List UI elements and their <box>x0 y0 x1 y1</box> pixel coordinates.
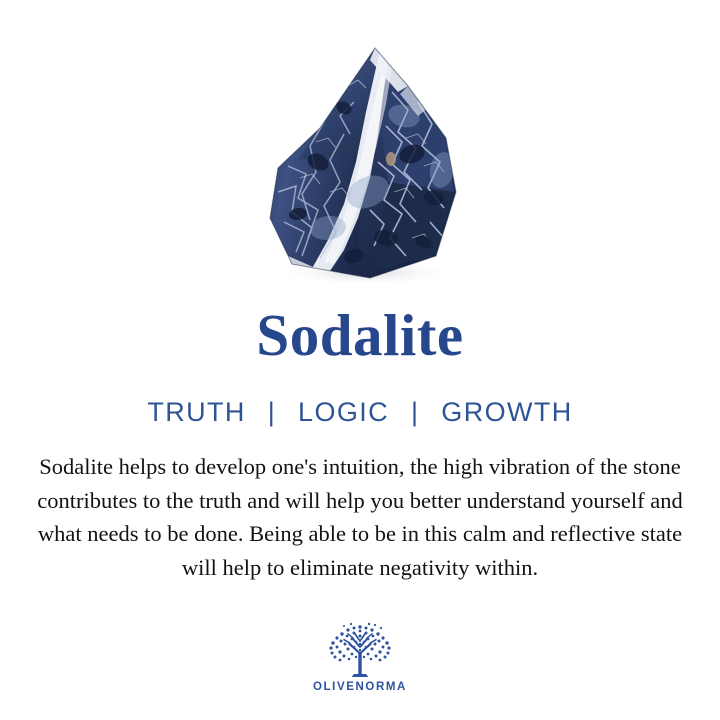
description-text: Sodalite helps to develop one's intuitio… <box>26 450 694 584</box>
keyword-growth: GROWTH <box>441 397 572 427</box>
brand-name: OLIVENORMA <box>0 681 720 693</box>
crystal-image-container <box>0 0 720 292</box>
keyword-separator-1: | <box>255 397 289 427</box>
keyword-truth: TRUTH <box>147 397 245 427</box>
keyword-list: TRUTH | LOGIC | GROWTH <box>0 396 720 428</box>
page-title: Sodalite <box>0 302 720 368</box>
sodalite-info-card: Sodalite TRUTH | LOGIC | GROWTH Sodalite… <box>0 0 720 720</box>
sodalite-crystal-photo <box>258 42 468 282</box>
tree-of-life-icon <box>323 622 397 680</box>
keyword-logic: LOGIC <box>298 397 389 427</box>
keyword-separator-2: | <box>398 397 432 427</box>
brand-logo: OLIVENORMA <box>0 622 720 693</box>
